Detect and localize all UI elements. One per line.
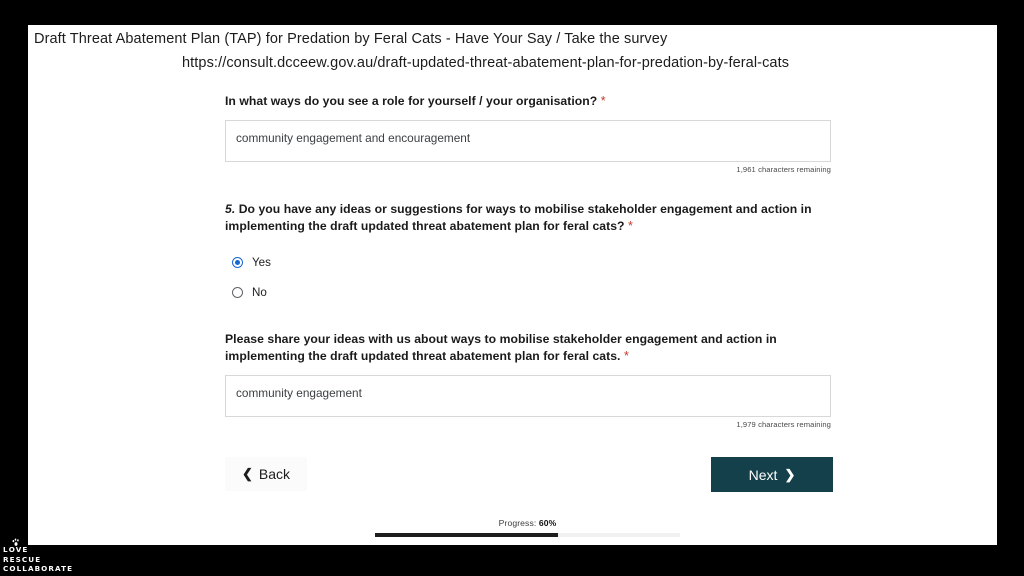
back-button-label: Back xyxy=(259,466,290,482)
next-button-label: Next xyxy=(749,467,778,483)
question-1-char-counter: 1,961 characters remaining xyxy=(225,165,831,174)
progress-section: Progress: 60% xyxy=(375,518,680,537)
logo-line-collaborate: COLLABORATE xyxy=(3,564,123,574)
page-title: Draft Threat Abatement Plan (TAP) for Pr… xyxy=(28,31,997,47)
progress-label: Progress: 60% xyxy=(375,518,680,528)
question-1-textarea[interactable]: community engagement and encouragement xyxy=(225,120,831,162)
progress-value: 60% xyxy=(539,518,557,528)
radio-button-no-icon[interactable] xyxy=(232,287,243,298)
question-5-number: 5. xyxy=(225,202,235,216)
required-asterisk: * xyxy=(628,219,633,233)
chevron-left-icon: ❮ xyxy=(242,466,253,482)
progress-label-prefix: Progress: xyxy=(499,518,539,528)
logo-line-rescue: RESCUE xyxy=(3,555,123,565)
page-content-panel: Draft Threat Abatement Plan (TAP) for Pr… xyxy=(28,25,997,545)
back-button[interactable]: ❮ Back xyxy=(225,457,307,491)
chevron-right-icon: ❯ xyxy=(784,467,795,483)
question-5-label: 5. Do you have any ideas or suggestions … xyxy=(225,201,833,236)
document-header: Draft Threat Abatement Plan (TAP) for Pr… xyxy=(28,25,997,71)
screen-root: Draft Threat Abatement Plan (TAP) for Pr… xyxy=(0,0,1024,576)
radio-label-no: No xyxy=(252,286,267,299)
question-5-radio-group: Yes No xyxy=(225,253,833,303)
question-followup-label: Please share your ideas with us about wa… xyxy=(225,331,833,366)
form-navigation: ❮ Back Next ❯ xyxy=(225,457,833,493)
question-followup-answer-text: community engagement xyxy=(236,386,362,400)
question-followup-textarea[interactable]: community engagement xyxy=(225,375,831,417)
survey-form: In what ways do you see a role for yours… xyxy=(225,93,833,429)
question-1-text: In what ways do you see a role for yours… xyxy=(225,94,597,108)
required-asterisk: * xyxy=(601,94,606,108)
question-1-answer-text: community engagement and encouragement xyxy=(236,131,470,145)
radio-option-no[interactable]: No xyxy=(225,283,833,303)
required-asterisk: * xyxy=(624,349,629,363)
question-followup-text: Please share your ideas with us about wa… xyxy=(225,332,777,364)
radio-label-yes: Yes xyxy=(252,256,271,269)
question-5-text: Do you have any ideas or suggestions for… xyxy=(225,202,812,234)
logo-o-paw: O xyxy=(9,545,16,555)
radio-button-yes-icon[interactable] xyxy=(232,257,243,268)
next-button[interactable]: Next ❯ xyxy=(711,457,833,492)
radio-option-yes[interactable]: Yes xyxy=(225,253,833,273)
brand-logo: LOVE RESCUE COLLABORATE xyxy=(3,545,123,574)
logo-line-love: LOVE xyxy=(3,545,123,555)
progress-bar-fill xyxy=(375,533,558,537)
question-1-label: In what ways do you see a role for yours… xyxy=(225,93,833,111)
question-followup-char-counter: 1,979 characters remaining xyxy=(225,420,831,429)
progress-bar-track xyxy=(375,533,680,537)
page-url: https://consult.dcceew.gov.au/draft-upda… xyxy=(28,47,997,71)
